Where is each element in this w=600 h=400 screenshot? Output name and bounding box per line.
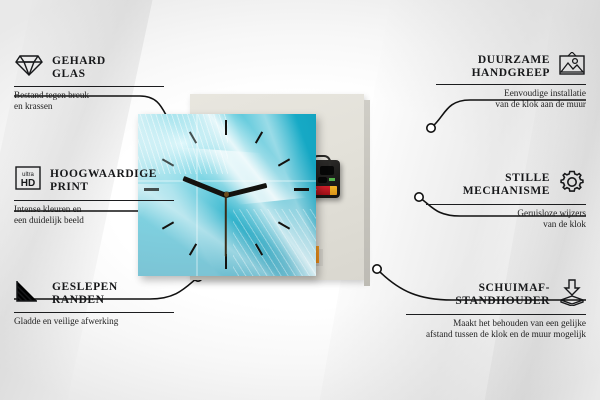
hour-tick xyxy=(278,221,290,229)
feature-description: Maakt het behouden van een gelijkeafstan… xyxy=(406,318,586,340)
feature-description: Eenvoudige installatievan de klok aan de… xyxy=(436,88,586,110)
feather-pattern xyxy=(233,209,316,276)
press-down-pad-icon xyxy=(558,278,586,311)
product-infographic: AA 1.5V xyxy=(0,0,600,400)
glass-seam xyxy=(196,114,198,276)
divider xyxy=(426,204,586,205)
mechanism-slot xyxy=(320,166,334,175)
bevelled-edge-icon xyxy=(14,278,44,309)
feature-title: GEHARDGLAS xyxy=(52,55,106,81)
divider xyxy=(14,86,164,87)
feature-geslepen-randen[interactable]: GESLEPENRANDEN Gladde en veilige afwerki… xyxy=(14,278,174,327)
feature-duurzame-handgreep[interactable]: DUURZAMEHANDGREEP Eenvoudige installatie… xyxy=(436,52,586,110)
hour-tick xyxy=(225,120,227,135)
picture-frame-icon xyxy=(558,52,586,81)
clock-pivot xyxy=(224,192,229,197)
gear-icon xyxy=(558,168,586,201)
hour-tick xyxy=(255,243,263,255)
ultra-hd-icon: ultra HD xyxy=(14,164,42,197)
divider xyxy=(436,84,586,85)
svg-text:HD: HD xyxy=(21,178,35,189)
feather-pattern xyxy=(154,146,316,276)
feature-stille-mechanisme[interactable]: STILLEMECHANISME Geruisloze wijzersvan d… xyxy=(426,168,586,230)
feature-schuimaf-standhouder[interactable]: SCHUIMAF-STANDHOUDER Maakt het behouden … xyxy=(406,278,586,340)
divider xyxy=(14,312,174,313)
feature-title: HOOGWAARDIGEPRINT xyxy=(50,168,157,194)
divider xyxy=(14,200,174,201)
feature-description: Gladde en veilige afwerking xyxy=(14,316,174,327)
mechanism-indicator xyxy=(329,178,335,181)
feature-description: Bestand tegen breuken krassen xyxy=(14,90,164,112)
feature-description: Intense kleuren eneen duidelijk beeld xyxy=(14,204,174,226)
feature-title: GESLEPENRANDEN xyxy=(52,281,118,307)
feature-title: DUURZAMEHANDGREEP xyxy=(472,54,550,80)
battery-terminal xyxy=(330,186,337,195)
feature-title: SCHUIMAF-STANDHOUDER xyxy=(455,282,550,308)
feature-hoogwaardige-print[interactable]: ultra HD HOOGWAARDIGEPRINT Intense kleur… xyxy=(14,164,174,226)
hour-hand xyxy=(225,183,267,198)
divider xyxy=(406,314,586,315)
feature-gehard-glas[interactable]: GEHARDGLAS Bestand tegen breuken krassen xyxy=(14,52,164,112)
second-hand xyxy=(225,195,227,257)
diamond-icon xyxy=(14,52,44,83)
mechanism-slot xyxy=(318,177,327,183)
feature-description: Geruisloze wijzersvan de klok xyxy=(426,208,586,230)
feature-title: STILLEMECHANISME xyxy=(463,172,550,198)
hour-tick xyxy=(294,188,309,191)
hour-tick xyxy=(278,158,290,166)
hour-tick xyxy=(255,131,263,143)
